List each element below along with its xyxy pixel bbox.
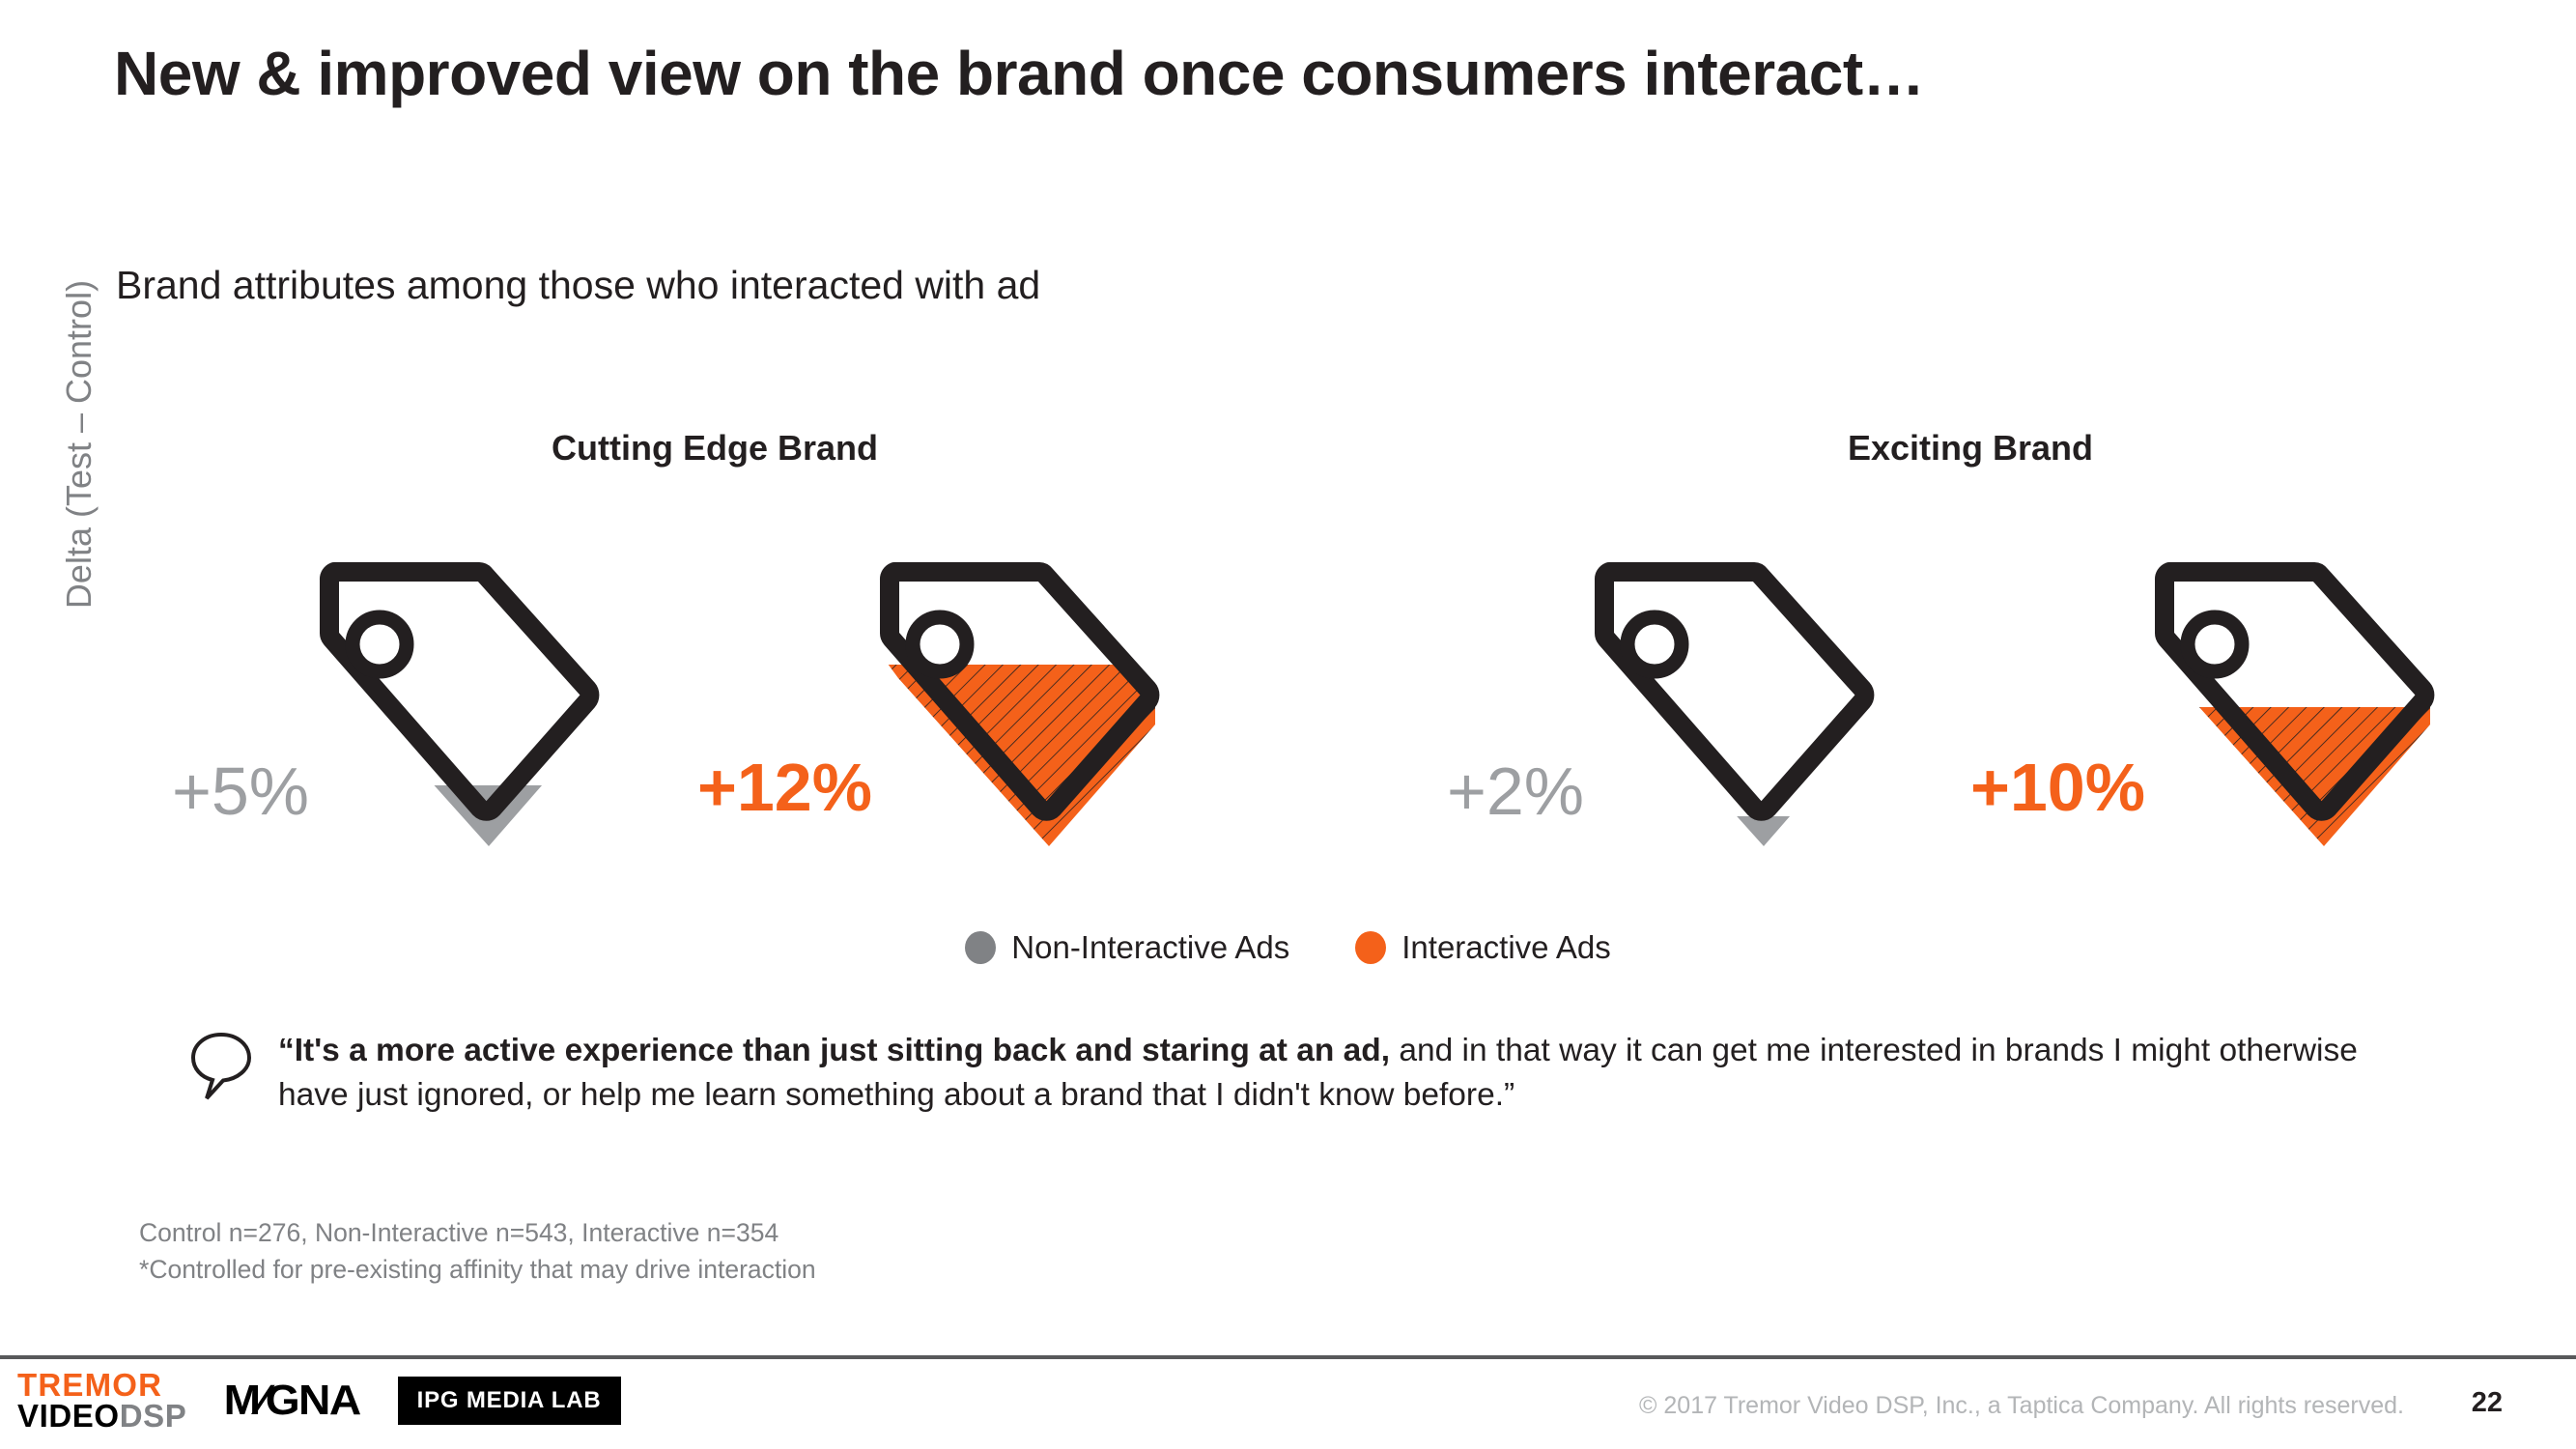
tag-fill-level [860, 665, 1178, 874]
tag-hole-icon [2188, 617, 2242, 671]
legend-label-non-interactive-ads: Non-Interactive Ads [1011, 929, 1289, 966]
dsp-wordmark: DSP [120, 1398, 187, 1434]
video-wordmark: VIDEO [17, 1398, 120, 1434]
tag-glyph-exciting-interactive [2135, 541, 2453, 874]
tag-hole-icon [913, 617, 967, 671]
legend-label-interactive-ads: Interactive Ads [1401, 929, 1610, 966]
footnotes: Control n=276, Non-Interactive n=543, In… [139, 1215, 1684, 1289]
quote-callout: “It's a more active experience than just… [189, 1029, 2392, 1118]
value-label-cutting-edge-interactive: +12% [697, 753, 872, 821]
tag-fill-level [1574, 816, 1893, 874]
legend-item-non-interactive-ads: Non-Interactive Ads [965, 929, 1289, 966]
chart-area: Cutting Edge Brand Exciting Brand [0, 0, 2576, 985]
footnote-sample-sizes: Control n=276, Non-Interactive n=543, In… [139, 1215, 1684, 1252]
group-title-exciting-brand: Exciting Brand [1623, 428, 2318, 469]
tag-hole-icon [1628, 617, 1682, 671]
ipg-media-lab-logo: IPG MEDIA LAB [398, 1377, 621, 1425]
tag-glyph-exciting-non-interactive [1574, 541, 1893, 874]
magna-logo: M∕GNA [224, 1377, 360, 1425]
orange-dot-icon [1355, 931, 1386, 964]
copyright-notice: © 2017 Tremor Video DSP, Inc., a Taptica… [1639, 1392, 2404, 1420]
quote-bold-segment: “It's a more active experience than just… [278, 1033, 1390, 1068]
legend-item-interactive-ads: Interactive Ads [1355, 929, 1610, 966]
value-label-cutting-edge-non-interactive: +5% [172, 757, 309, 825]
tremor-wordmark: TREMOR [17, 1370, 186, 1401]
tag-glyph-cutting-edge-non-interactive [299, 541, 618, 874]
value-label-exciting-non-interactive: +2% [1447, 757, 1584, 825]
tag-fill-clip [860, 665, 1178, 874]
chart-legend: Non-Interactive Ads Interactive Ads [0, 929, 2576, 966]
group-title-cutting-edge-brand: Cutting Edge Brand [367, 428, 1062, 469]
quote-text: “It's a more active experience than just… [278, 1029, 2392, 1118]
tag-fill-clip [1574, 816, 1893, 874]
speech-bubble-icon [189, 1031, 253, 1109]
value-label-exciting-interactive: +10% [1970, 753, 2145, 821]
footer-logo-group: TREMOR VIDEODSP M∕GNA IPG MEDIA LAB [17, 1370, 621, 1433]
gray-dot-icon [965, 931, 996, 964]
tag-glyph-cutting-edge-interactive [860, 541, 1178, 874]
tag-outline [1604, 572, 1864, 811]
page-number: 22 [2472, 1387, 2503, 1419]
tag-outline [329, 572, 589, 811]
footnote-methodology: *Controlled for pre-existing affinity th… [139, 1252, 1684, 1289]
tremor-video-dsp-logo: TREMOR VIDEODSP [17, 1370, 186, 1433]
tag-hole-icon [353, 617, 407, 671]
